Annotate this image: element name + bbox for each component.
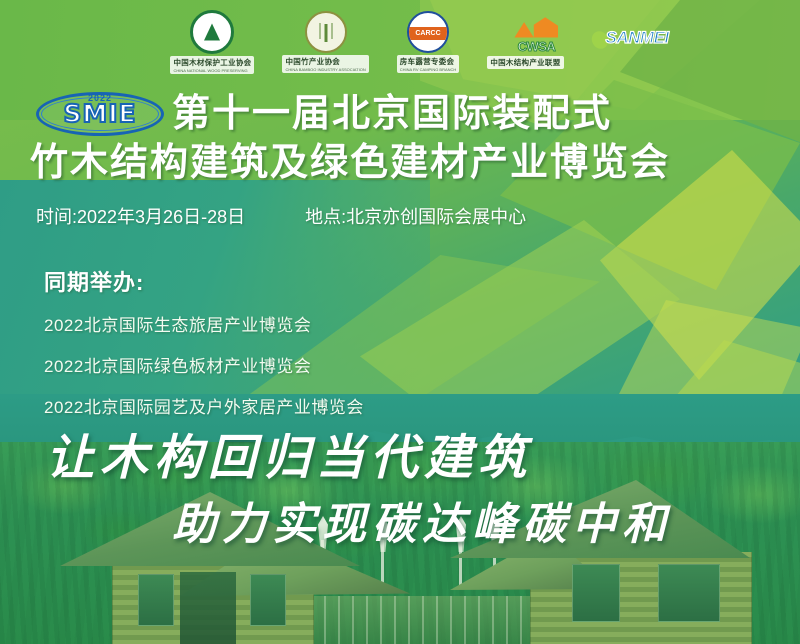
carcc-seal-icon: CARCC	[407, 11, 449, 53]
slogan-line-2: 助力实现碳达峰碳中和	[172, 488, 672, 552]
event-meta: 时间:2022年3月26日-28日 地点:北京亦创国际会展中心	[36, 203, 526, 229]
pine-tree-icon	[190, 10, 234, 54]
sponsor-subtitle: CHINA NATIONAL WOOD PRESERVING	[173, 68, 251, 73]
concurrent-heading: 同期举办:	[44, 265, 364, 297]
smie-logo: 2022 SMIE	[36, 92, 164, 136]
sponsor-label: 中国木结构产业联盟	[487, 56, 563, 69]
poster-title-block: 2022 SMIE 第十一届北京国际装配式 竹木结构建筑及绿色建材产业博览会	[0, 92, 800, 182]
title-line-2: 竹木结构建筑及绿色建材产业博览会	[0, 144, 800, 182]
cabin-door	[180, 572, 236, 644]
house-roof-icon: CWSA	[506, 16, 544, 54]
sponsor-logo-cwsa: CWSA 中国木结构产业联盟	[487, 16, 563, 69]
sponsor-logo-bamboo: 中国竹产业协会 CHINA BAMBOO INDUSTRY ASSOCIATIO…	[282, 11, 368, 73]
sanmei-wordmark: SANMEI	[606, 28, 688, 48]
sponsor-name: 中国木材保护工业协会	[173, 58, 251, 67]
exhibition-poster: 中国木材保护工业协会 CHINA NATIONAL WOOD PRESERVIN…	[0, 0, 800, 644]
sponsor-name: 中国木结构产业联盟	[490, 58, 560, 67]
sponsor-label: 中国木材保护工业协会 CHINA NATIONAL WOOD PRESERVIN…	[170, 56, 254, 74]
sponsor-label: 中国竹产业协会 CHINA BAMBOO INDUSTRY ASSOCIATIO…	[282, 55, 368, 73]
sponsor-name: 房车露营专委会	[400, 57, 455, 66]
title-line-1: 2022 SMIE 第十一届北京国际装配式	[0, 92, 800, 136]
concurrent-item: 2022北京国际绿色板材产业博览会	[44, 352, 364, 377]
sponsor-subtitle: CHINA BAMBOO INDUSTRY ASSOCIATION	[285, 67, 365, 72]
sponsor-logo-bar: 中国木材保护工业协会 CHINA NATIONAL WOOD PRESERVIN…	[0, 6, 800, 78]
carcc-acronym: CARCC	[409, 27, 447, 40]
page-title: 第十一届北京国际装配式	[172, 95, 612, 133]
sponsor-logo-sanmei: SANMEI	[592, 23, 630, 61]
bamboo-seal-icon	[305, 11, 347, 53]
sponsor-logo-carcc: CARCC 房车露营专委会 CHINA RV CAMPING BRANCH	[397, 11, 460, 73]
cwsa-acronym: CWSA	[506, 39, 566, 54]
concurrent-item: 2022北京国际生态旅居产业博览会	[44, 311, 364, 336]
sponsor-name: 中国竹产业协会	[285, 57, 340, 66]
cabin-window	[658, 564, 720, 622]
slogan-line-1: 让木构回归当代建筑	[46, 418, 532, 488]
cabin-window	[250, 574, 286, 626]
sanmei-leaf-icon: SANMEI	[592, 23, 630, 61]
event-venue: 地点:北京亦创国际会展中心	[305, 203, 526, 229]
concurrent-item: 2022北京国际园艺及户外家居产业博览会	[44, 393, 364, 418]
cabin-window	[138, 574, 174, 626]
event-date: 时间:2022年3月26日-28日	[36, 203, 245, 229]
sponsor-logo-wood-preserving: 中国木材保护工业协会 CHINA NATIONAL WOOD PRESERVIN…	[170, 10, 254, 74]
smie-acronym: SMIE	[36, 101, 164, 126]
sponsor-label: 房车露营专委会 CHINA RV CAMPING BRANCH	[397, 55, 460, 73]
concurrent-events: 同期举办: 2022北京国际生态旅居产业博览会 2022北京国际绿色板材产业博览…	[44, 265, 364, 434]
cabin-window	[572, 564, 620, 622]
sponsor-subtitle: CHINA RV CAMPING BRANCH	[400, 67, 457, 72]
house-shape	[514, 16, 558, 38]
